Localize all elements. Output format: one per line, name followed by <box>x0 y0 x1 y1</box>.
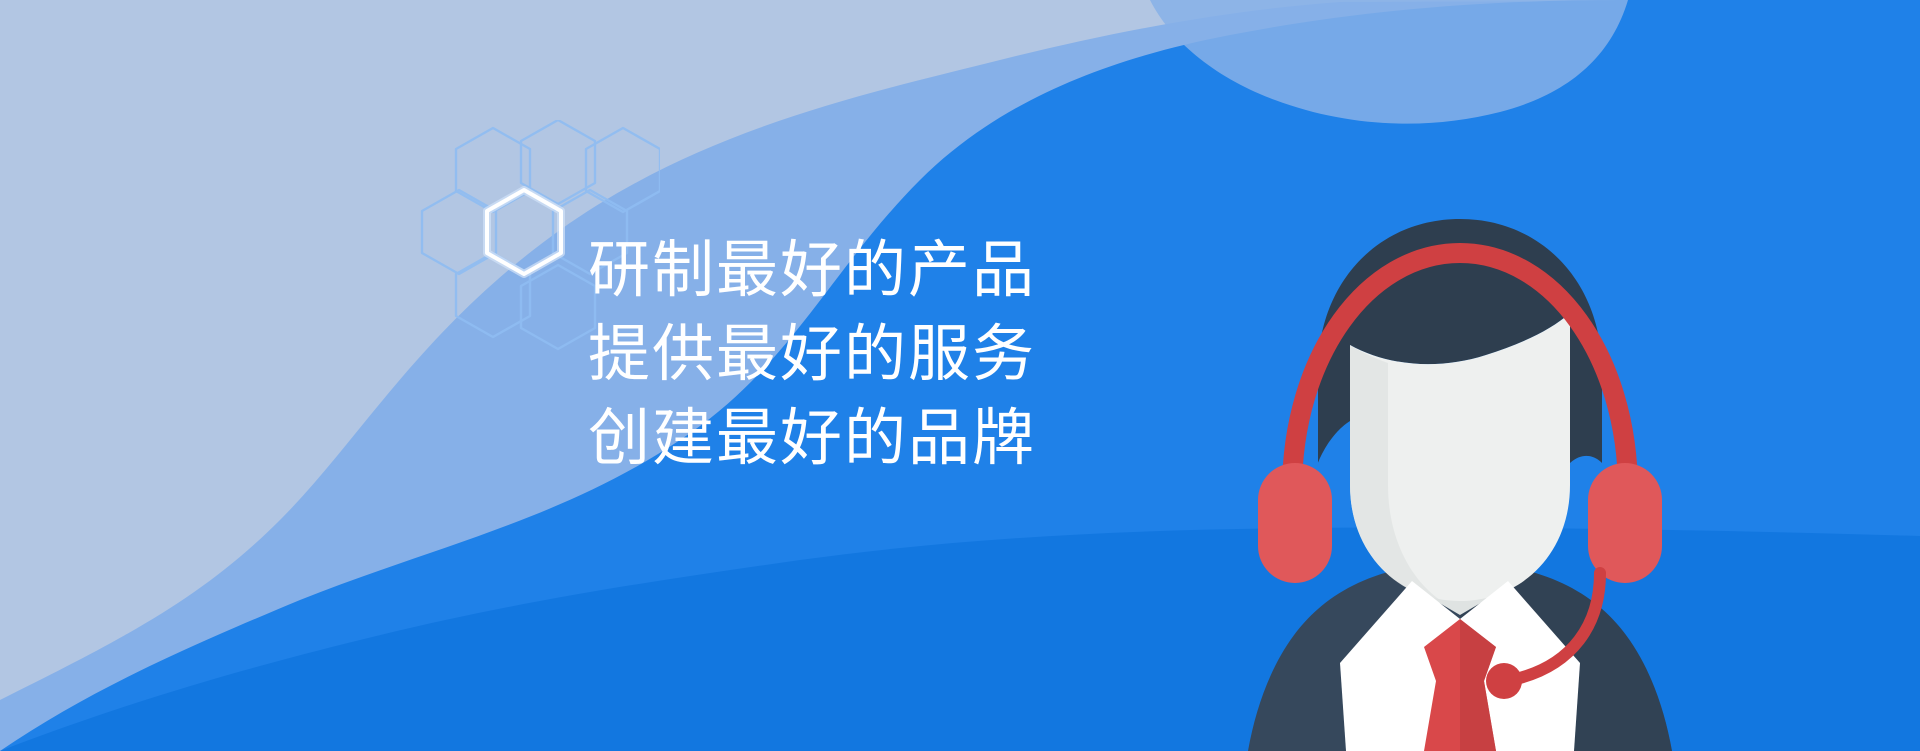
hero-banner: 研制最好的产品 提供最好的服务 创建最好的品牌 <box>0 0 1920 751</box>
hexagon-top-left <box>456 128 530 212</box>
headline-line-3: 创建最好的品牌 <box>588 396 1058 480</box>
hexagon-center-highlight <box>487 190 561 274</box>
headline-line-2: 提供最好的服务 <box>588 312 1058 396</box>
hexagon-top-right <box>586 128 660 212</box>
headset-earcup-left <box>1258 463 1332 583</box>
headline-line-1: 研制最好的产品 <box>588 228 1058 312</box>
hexagon-bottom-mid <box>521 265 595 349</box>
headset-microphone-tip <box>1486 663 1522 699</box>
headline-block: 研制最好的产品 提供最好的服务 创建最好的品牌 <box>588 228 1058 480</box>
customer-service-agent <box>1200 195 1720 751</box>
headset-earcup-right <box>1588 463 1662 583</box>
hexagon-bottom-left <box>456 253 530 337</box>
